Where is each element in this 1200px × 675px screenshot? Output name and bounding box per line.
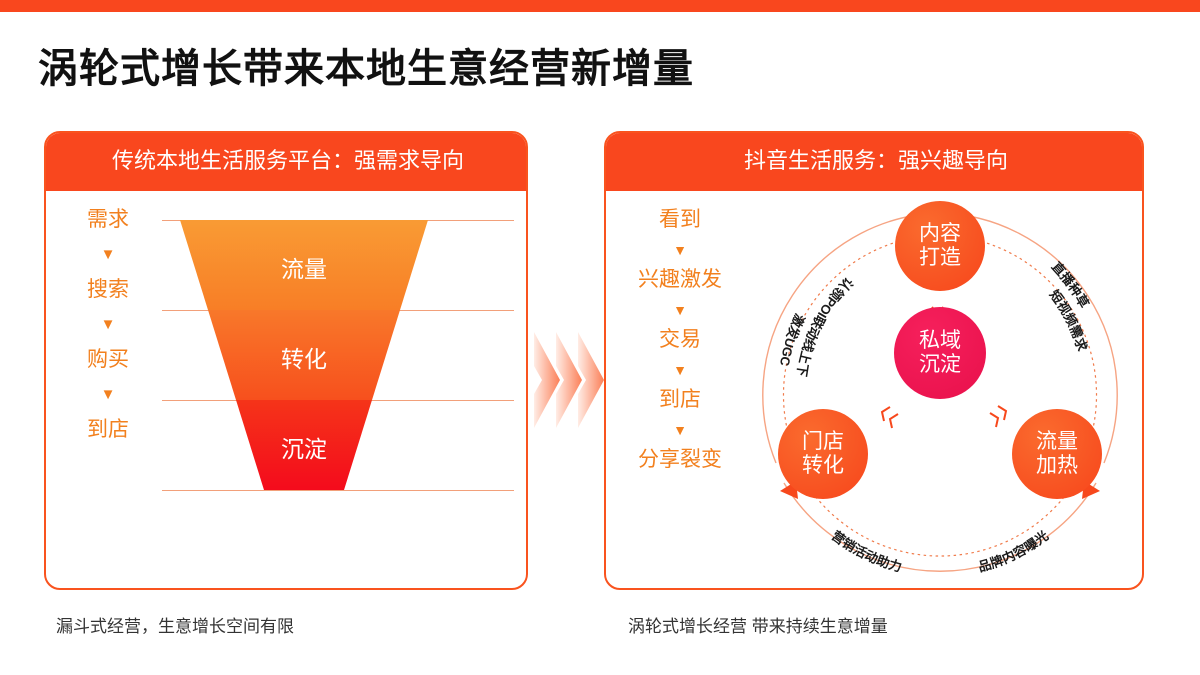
right-arrow-down-icon-2: ▼ <box>620 295 740 325</box>
turbo-node-center-line2: 沉淀 <box>919 353 961 377</box>
turbo-node-content-line2: 打造 <box>919 246 961 270</box>
funnel-stage-4: 到店 <box>62 417 154 443</box>
turbo-node-store-line2: 转化 <box>802 454 844 478</box>
right-card-header: 抖音生活服务：强兴趣导向 <box>604 131 1144 191</box>
right-card: 抖音生活服务：强兴趣导向 看到 ▼ 兴趣激发 ▼ 交易 ▼ 到店 ▼ 分享裂变 <box>604 131 1144 590</box>
right-stage-list: 看到 ▼ 兴趣激发 ▼ 交易 ▼ 到店 ▼ 分享裂变 <box>620 205 740 475</box>
funnel-arrow-down-icon-3: ▼ <box>62 373 154 417</box>
left-card-header: 传统本地生活服务平台：强需求导向 <box>44 131 528 191</box>
turbo-node-traffic-line1: 流量 <box>1036 430 1078 454</box>
turbo-node-center-line1: 私域 <box>919 329 961 353</box>
funnel-stage-1: 需求 <box>62 207 154 233</box>
right-arrow-down-icon-1: ▼ <box>620 235 740 265</box>
right-arrow-down-icon-3: ▼ <box>620 355 740 385</box>
funnel-stage-2: 搜索 <box>62 277 154 303</box>
turbo-node-content[interactable]: 内容 打造 <box>895 201 985 291</box>
arc-label-bottom-right: 品牌内容曝光 <box>976 528 1051 575</box>
right-stage-2: 兴趣激发 <box>620 265 740 295</box>
right-stage-1: 看到 <box>620 205 740 235</box>
turbo-node-center[interactable]: 私域 沉淀 <box>894 307 986 399</box>
turbo-node-content-line1: 内容 <box>919 222 961 246</box>
funnel-diagram: 流量 转化 沉淀 需求 ▼ 搜索 ▼ 购买 ▼ 到店 <box>46 193 526 590</box>
funnel-stage-list: 需求 ▼ 搜索 ▼ 购买 ▼ 到店 <box>62 207 154 443</box>
turbo-node-traffic-line2: 加热 <box>1036 454 1078 478</box>
funnel-arrow-down-icon-1: ▼ <box>62 233 154 277</box>
funnel-stage-3: 购买 <box>62 347 154 373</box>
page-title: 涡轮式增长带来本地生意经营新增量 <box>38 36 694 94</box>
turbo-node-store[interactable]: 门店 转化 <box>778 409 868 499</box>
funnel-arrow-down-icon-2: ▼ <box>62 303 154 347</box>
right-stage-5: 分享裂变 <box>620 445 740 475</box>
left-card: 传统本地生活服务平台：强需求导向 <box>44 131 528 590</box>
turbo-node-traffic[interactable]: 流量 加热 <box>1012 409 1102 499</box>
right-arrow-down-icon-4: ▼ <box>620 415 740 445</box>
turbo-node-store-line1: 门店 <box>802 430 844 454</box>
slide-root: 涡轮式增长带来本地生意经营新增量 传统本地生活服务平台：强需求导向 <box>0 0 1200 675</box>
funnel-segment-label-2: 转化 <box>244 340 364 374</box>
top-accent-bar <box>0 0 1200 12</box>
right-stage-4: 到店 <box>620 385 740 415</box>
right-caption: 涡轮式增长经营 带来持续生意增量 <box>628 612 888 637</box>
funnel-segment-label-3: 沉淀 <box>244 430 364 464</box>
arc-label-bottom-left: 营销活动助力 <box>829 528 904 575</box>
turbo-growth-diagram: 激发UGC 认领POI联动线上下 直播种草 短视频需求 营销活动助力 品牌内容曝… <box>740 195 1140 585</box>
transition-chevrons <box>534 332 608 428</box>
right-stage-3: 交易 <box>620 325 740 355</box>
left-caption: 漏斗式经营，生意增长空间有限 <box>56 612 294 637</box>
funnel-segment-label-1: 流量 <box>244 250 364 284</box>
